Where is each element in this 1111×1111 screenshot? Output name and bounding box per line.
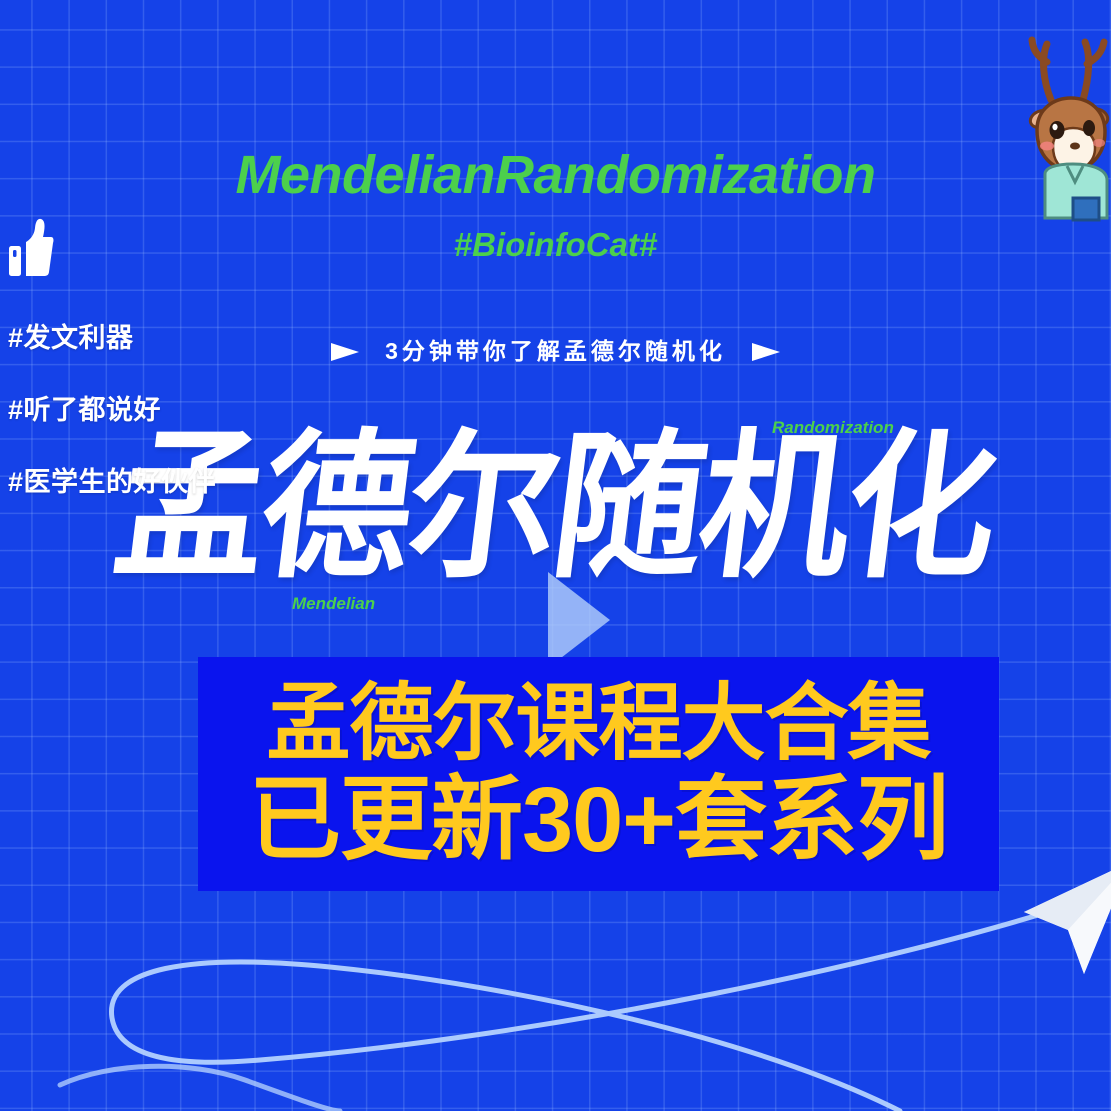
english-title: MendelianRandomization: [0, 148, 1111, 202]
play-triangle-icon[interactable]: [548, 572, 610, 668]
banner-line-1: 孟德尔课程大合集: [266, 679, 930, 768]
hashtag-item[interactable]: #医学生的好伙伴: [8, 469, 216, 496]
paper-plane-icon: [1022, 856, 1111, 976]
arrow-right-icon-left: [331, 343, 359, 361]
hashtag-item[interactable]: #听了都说好: [8, 397, 216, 424]
label-randomization: Randomization: [772, 419, 894, 436]
hashtag-item[interactable]: #发文利器: [8, 325, 216, 352]
poster-canvas: MendelianRandomization #BioinfoCat# 3分钟带…: [0, 0, 1111, 1111]
arrow-right-icon-right: [752, 343, 780, 361]
promo-banner: 孟德尔课程大合集 已更新30+套系列: [198, 657, 999, 891]
hashtag-list: #发文利器 #听了都说好 #医学生的好伙伴: [8, 325, 216, 496]
tagline-text: 3分钟带你了解孟德尔随机化: [385, 340, 726, 363]
english-subtitle: #BioinfoCat#: [0, 228, 1111, 261]
main-title: 孟德尔随机化: [108, 428, 1004, 587]
label-mendelian: Mendelian: [292, 595, 375, 612]
banner-line-2: 已更新30+套系列: [249, 772, 948, 870]
